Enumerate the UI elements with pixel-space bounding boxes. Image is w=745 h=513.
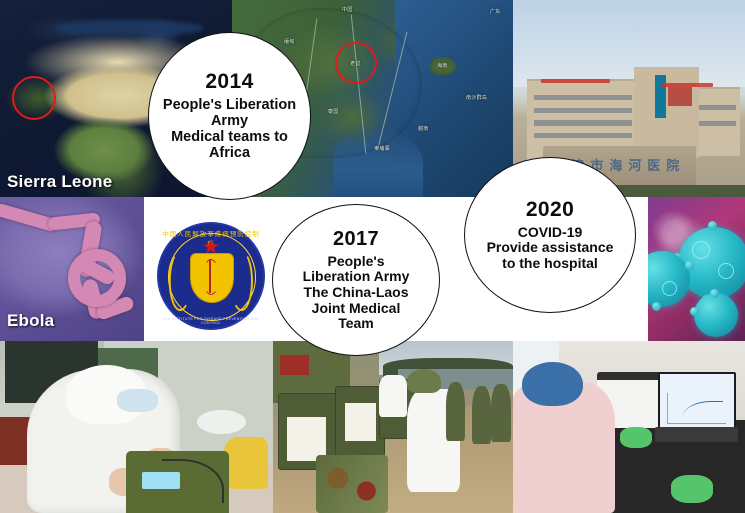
callout-2017-line-2: Liberation Army — [303, 269, 410, 285]
mediterranean-sea — [54, 20, 204, 36]
virion-small-bottom — [694, 293, 738, 337]
map-label-guangdong: 广东 — [490, 8, 501, 15]
pla-disease-control-emblem: 中国人民解放军疾病预防控制所 PLA INSTITUTE FOR DISEASE… — [157, 222, 265, 330]
asclepius-snake-icon — [203, 259, 220, 294]
gloved-hand-left — [671, 475, 713, 503]
spike-protein — [685, 261, 694, 270]
callout-2020-line-1: COVID-19 — [487, 225, 614, 241]
callout-2020-line-2: Provide assistance — [487, 240, 614, 256]
hair-cap — [522, 362, 582, 407]
virus-loop — [68, 249, 126, 307]
coronavirus-illustration — [648, 197, 745, 341]
callout-2020[interactable]: 2020 COVID-19 Provide assistance to the … — [464, 157, 636, 313]
sierra-leone-marker — [12, 76, 56, 120]
callout-2017[interactable]: 2017 People's Liberation Army The China-… — [272, 204, 440, 356]
window — [534, 133, 632, 139]
gloved-hand-right — [620, 427, 652, 448]
camouflage-case — [316, 455, 388, 513]
window — [534, 120, 632, 126]
callout-2020-year: 2020 — [526, 198, 574, 222]
emblem-year: 2003 — [199, 295, 224, 301]
document-sheet-2 — [345, 403, 376, 441]
callout-2017-line-1: People's — [303, 254, 410, 270]
window — [534, 95, 632, 101]
field-medical-team-photo — [273, 341, 513, 513]
slide-canvas: Sierra Leone 中国 老挝 泰国 越南 柬埔寨 缅甸 海南 广东 南沙… — [0, 0, 745, 513]
soldier-3 — [491, 384, 510, 442]
soldier-1 — [446, 382, 465, 440]
laptop-keyboard — [655, 427, 739, 442]
caption-ebola: Ebola — [7, 311, 54, 331]
spike-protein — [652, 302, 661, 311]
callout-2014[interactable]: 2014 People's Liberation Army Medical te… — [148, 32, 311, 200]
tent-red-marker — [280, 355, 309, 376]
callout-2017-line-3: The China-Laos — [303, 285, 410, 301]
callout-2017-line-4: Joint Medical — [303, 301, 410, 317]
virion-surface-ring — [662, 281, 677, 296]
callout-2014-line-2: Army — [163, 113, 296, 129]
map-label-thailand: 泰国 — [328, 108, 339, 115]
callout-2014-year: 2014 — [205, 70, 253, 94]
callout-2017-year: 2017 — [333, 228, 379, 250]
window — [534, 108, 632, 114]
roof-sign-left — [541, 79, 611, 83]
map-label-hainan: 海南 — [437, 62, 448, 69]
callout-2017-line-5: Team — [303, 316, 410, 332]
spike-protein — [710, 289, 719, 298]
virion-surface-ring — [692, 241, 710, 259]
asclepius-rod-icon — [209, 259, 211, 292]
roof-sign-right — [661, 83, 712, 87]
camouflage-cap — [407, 369, 441, 393]
spike-protein — [708, 221, 717, 230]
map-label-cambodia: 柬埔寨 — [374, 145, 390, 152]
map-label-myanmar: 缅甸 — [284, 38, 295, 45]
spike-protein — [690, 307, 699, 316]
amplification-curve-chart — [667, 393, 726, 424]
tower-banner — [655, 75, 667, 118]
laboratory-pcr-photo — [513, 341, 745, 513]
tower-red-sign — [668, 87, 691, 107]
white-coat-technician-2 — [379, 375, 408, 416]
emblem-english-text: PLA INSTITUTE FOR DISEASE PREVENTION AND… — [159, 317, 263, 325]
sky — [513, 0, 745, 87]
map-label-china: 中国 — [342, 6, 353, 13]
yellow-biohazard-bag — [224, 437, 268, 489]
caption-sierra-leone: Sierra Leone — [7, 172, 112, 192]
callout-2014-line-1: People's Liberation — [163, 97, 296, 113]
callout-2014-line-4: Africa — [163, 145, 296, 161]
virion-surface-ring — [718, 263, 734, 279]
laptop-screen — [658, 372, 736, 434]
map-label-vietnam: 越南 — [418, 125, 429, 132]
map-label-nansha: 南沙群岛 — [466, 94, 487, 101]
callout-2020-line-3: to the hospital — [487, 256, 614, 272]
face-mask — [117, 389, 158, 411]
laos-marker — [335, 42, 377, 84]
ppe-technician-photo — [0, 341, 273, 513]
soldier-2 — [472, 386, 491, 444]
callout-2014-line-3: Medical teams to — [163, 129, 296, 145]
basin — [197, 410, 246, 434]
